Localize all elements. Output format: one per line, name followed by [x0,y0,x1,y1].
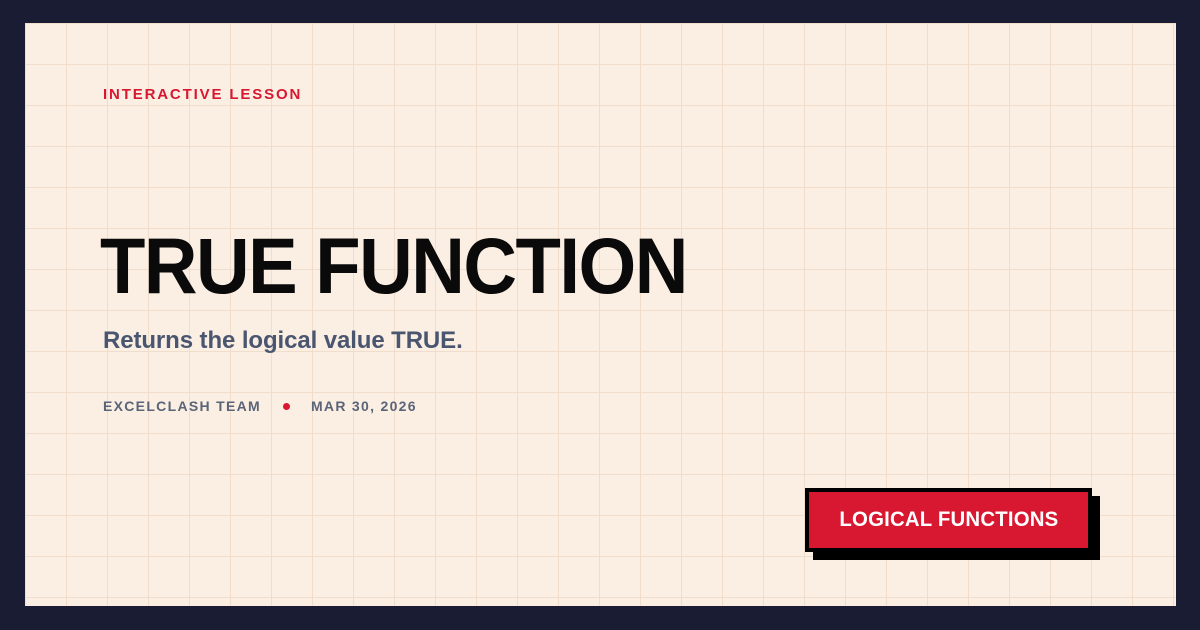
grid-paper-panel: INTERACTIVE LESSON TRUE FUNCTION Returns… [25,23,1176,606]
page-subtitle: Returns the logical value TRUE. [103,325,463,357]
category-badge-label: LOGICAL FUNCTIONS [839,508,1058,532]
byline-date: MAR 30, 2026 [311,396,417,416]
byline-author: EXCELCLASH TEAM [103,396,261,416]
dot-icon [283,403,290,410]
eyebrow-label: INTERACTIVE LESSON [103,85,302,105]
category-badge[interactable]: LOGICAL FUNCTIONS [805,488,1092,552]
lesson-card-banner: INTERACTIVE LESSON TRUE FUNCTION Returns… [0,0,1200,630]
byline: EXCELCLASH TEAM MAR 30, 2026 [103,396,417,416]
category-badge-wrapper[interactable]: LOGICAL FUNCTIONS [805,488,1100,560]
page-title: TRUE FUNCTION [100,224,687,308]
